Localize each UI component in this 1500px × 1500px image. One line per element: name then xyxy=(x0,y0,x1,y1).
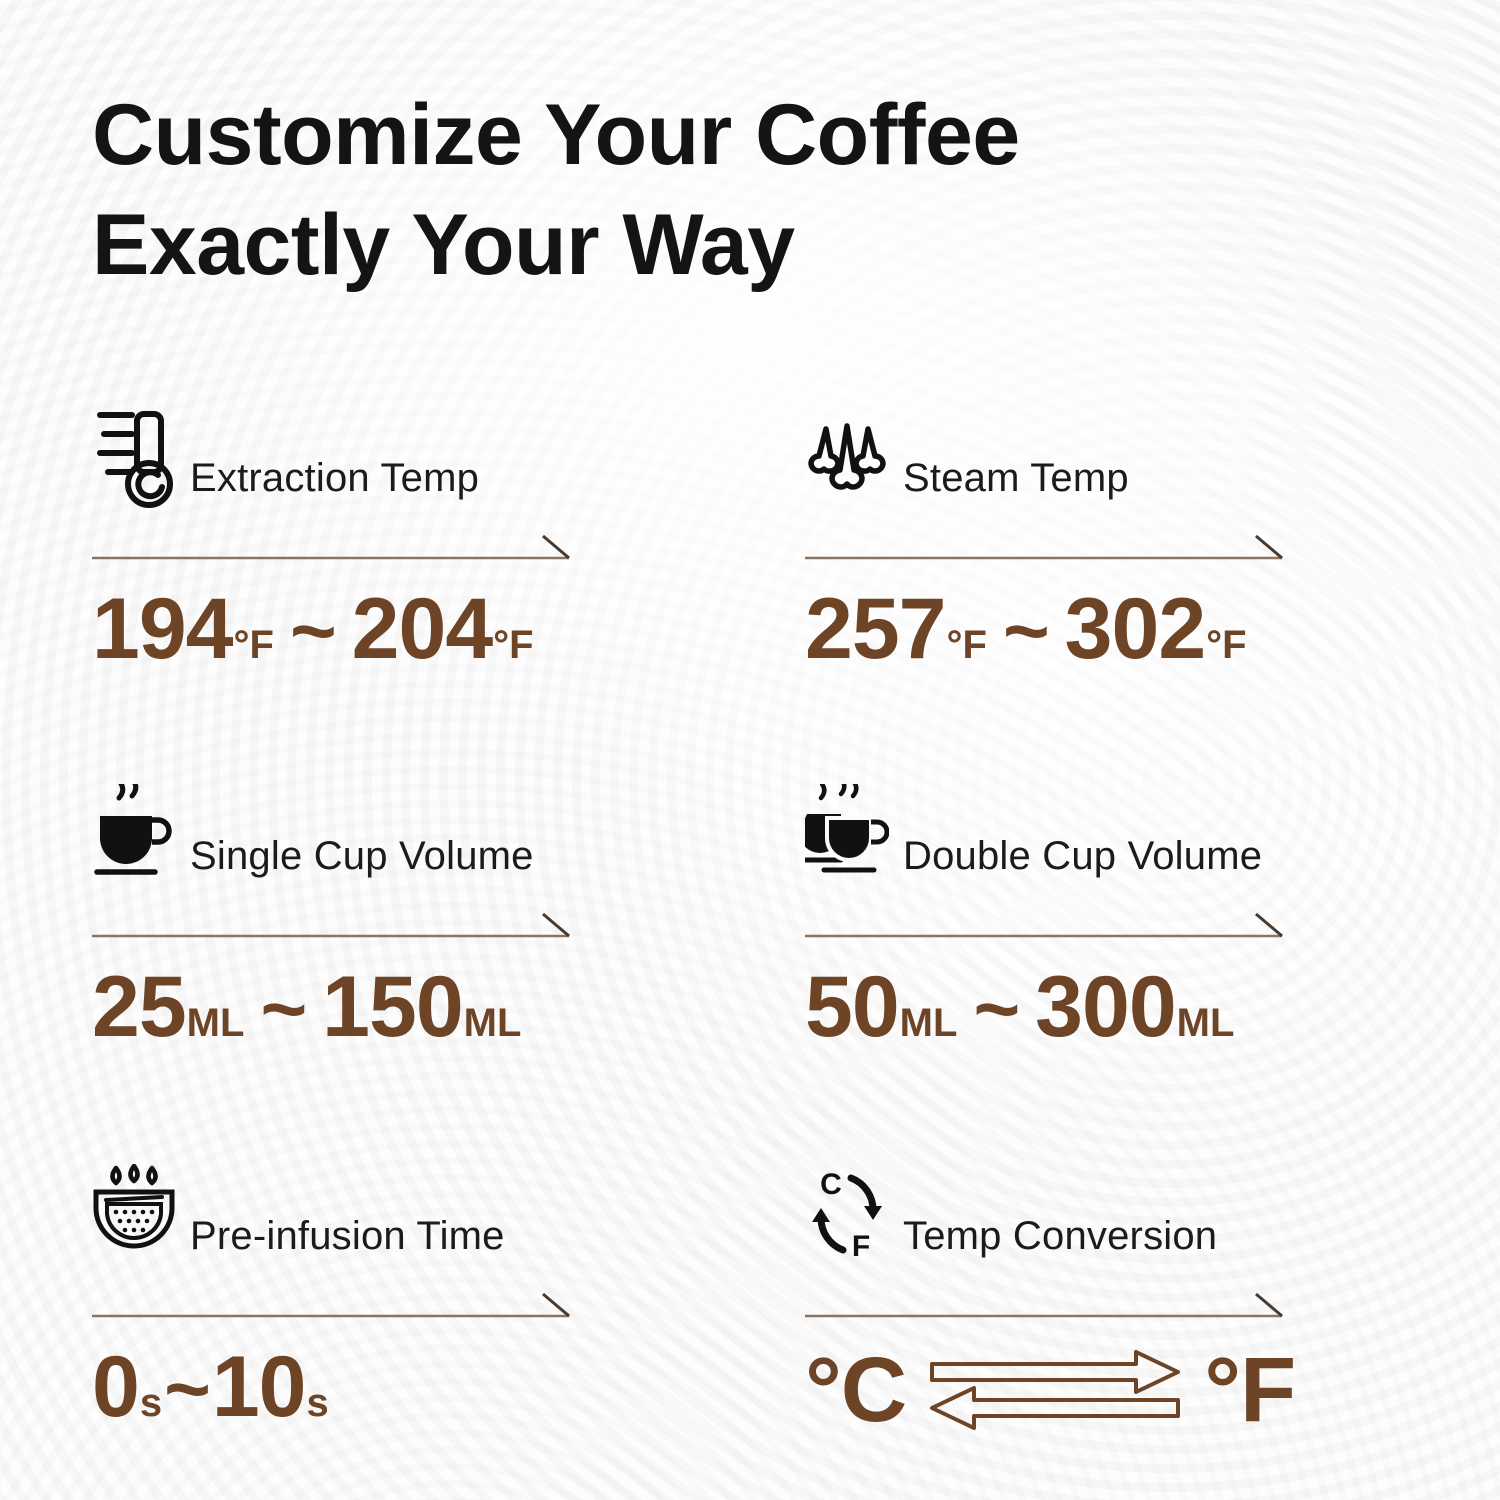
infographic-page: Customize Your CoffeeExactly Your Way xyxy=(0,0,1500,1500)
divider-arrow xyxy=(805,912,1285,942)
feature-card-extraction-temp: Extraction Temp 194°F ~ 204°F xyxy=(92,400,582,672)
feature-header: Double Cup Volume xyxy=(805,778,1295,888)
value-from-number: 50 xyxy=(805,964,899,1050)
value-to-number: 150 xyxy=(322,964,463,1050)
divider-arrow xyxy=(92,534,572,564)
value-to-unit: °F xyxy=(493,625,533,665)
page-title-line-1: Customize Your Coffee xyxy=(92,87,1020,183)
feature-card-temp-conversion: C F Temp Conversion °C xyxy=(805,1158,1295,1438)
value-from-unit: °F xyxy=(947,625,987,665)
conversion-icon-letter-top: C xyxy=(820,1168,842,1201)
value-from-unit: ML xyxy=(900,1003,958,1043)
value-from-number: 0 xyxy=(92,1344,139,1430)
feature-value: °C °F xyxy=(805,1342,1295,1438)
feature-header: Extraction Temp xyxy=(92,400,582,510)
double-cup-icon xyxy=(805,784,889,888)
divider-arrow xyxy=(805,534,1285,564)
value-from-number: 25 xyxy=(92,964,186,1050)
value-from-number: 194 xyxy=(92,586,233,672)
value-from-unit: s xyxy=(140,1383,162,1423)
feature-header: Steam Temp xyxy=(805,400,1295,510)
value-separator: ~ xyxy=(1003,591,1049,671)
value-separator: ~ xyxy=(973,969,1019,1049)
steam-icon xyxy=(805,406,889,510)
value-to-number: 300 xyxy=(1035,964,1176,1050)
value-to-unit: s xyxy=(306,1383,328,1423)
page-title: Customize Your CoffeeExactly Your Way xyxy=(92,80,1272,300)
feature-value: 0s ~ 10s xyxy=(92,1344,582,1430)
feature-label: Steam Temp xyxy=(903,458,1129,510)
conversion-icon-letter-bottom: F xyxy=(852,1230,870,1263)
divider-arrow xyxy=(805,1292,1285,1322)
value-to-unit: ML xyxy=(1177,1003,1235,1043)
feature-header: Single Cup Volume xyxy=(92,778,582,888)
thermometer-icon xyxy=(92,406,176,510)
feature-card-double-cup-volume: Double Cup Volume 50ML ~ 300ML xyxy=(805,778,1295,1050)
feature-label: Temp Conversion xyxy=(903,1216,1217,1268)
value-to-number: 302 xyxy=(1065,586,1206,672)
feature-value: 257°F ~ 302°F xyxy=(805,586,1295,672)
feature-label: Extraction Temp xyxy=(190,458,479,510)
value-from-number: 257 xyxy=(805,586,946,672)
feature-label: Pre-infusion Time xyxy=(190,1216,505,1268)
feature-value: 25ML ~ 150ML xyxy=(92,964,582,1050)
double-headed-arrow-icon xyxy=(930,1346,1180,1434)
feature-card-pre-infusion-time: Pre-infusion Time 0s ~ 10s xyxy=(92,1158,582,1430)
divider-arrow xyxy=(92,912,572,942)
feature-card-single-cup-volume: Single Cup Volume 25ML ~ 150ML xyxy=(92,778,582,1050)
feature-header: Pre-infusion Time xyxy=(92,1158,582,1268)
page-title-line-2: Exactly Your Way xyxy=(92,197,795,293)
value-to-unit: ML xyxy=(464,1003,522,1043)
value-to-number: 204 xyxy=(352,586,493,672)
value-separator: ~ xyxy=(290,591,336,671)
value-separator: ~ xyxy=(260,969,306,1049)
feature-card-steam-temp: Steam Temp 257°F ~ 302°F xyxy=(805,400,1295,672)
value-to-unit: °F xyxy=(1206,625,1246,665)
conversion-left-unit: °C xyxy=(805,1344,906,1436)
feature-value: 50ML ~ 300ML xyxy=(805,964,1295,1050)
temp-conversion-cycle-icon: C F xyxy=(805,1164,889,1268)
single-cup-icon xyxy=(92,784,176,888)
conversion-right-unit: °F xyxy=(1204,1344,1295,1436)
value-separator: ~ xyxy=(164,1349,210,1429)
feature-label: Single Cup Volume xyxy=(190,836,534,888)
value-to-number: 10 xyxy=(212,1344,306,1430)
value-from-unit: ML xyxy=(187,1003,245,1043)
divider-arrow xyxy=(92,1292,572,1322)
value-from-unit: °F xyxy=(234,625,274,665)
portafilter-shower-icon xyxy=(92,1164,176,1268)
feature-header: C F Temp Conversion xyxy=(805,1158,1295,1268)
feature-label: Double Cup Volume xyxy=(903,836,1262,888)
feature-value: 194°F ~ 204°F xyxy=(92,586,582,672)
